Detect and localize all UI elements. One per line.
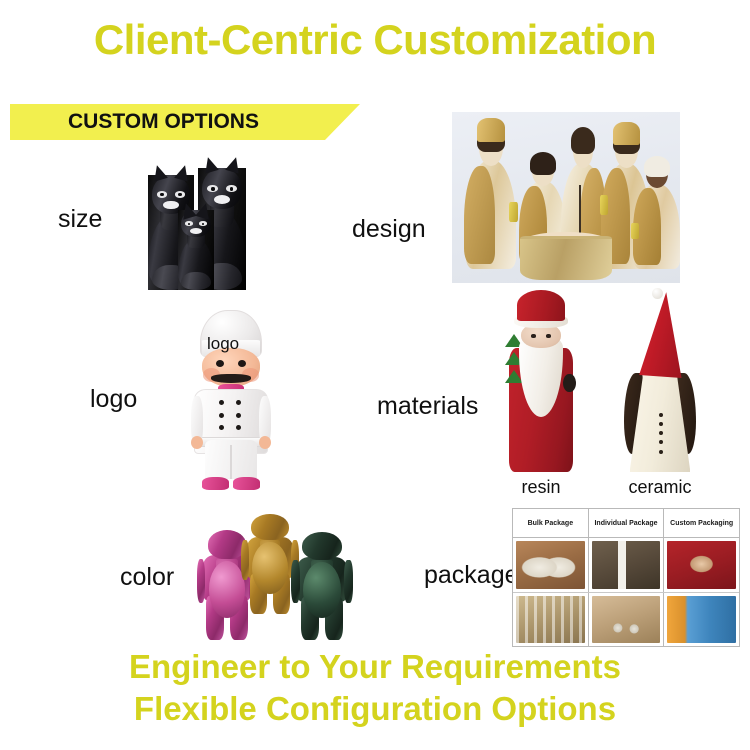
- option-label-design: design: [352, 215, 426, 244]
- astronaut-figurine-green: [294, 532, 350, 640]
- ceramic-santa-hat: [639, 290, 687, 377]
- table-row: [513, 538, 739, 593]
- cell-individual-photo-2: [589, 593, 665, 647]
- cat-ear-icon: [151, 163, 169, 181]
- black-cat-figurines-image: [148, 155, 258, 290]
- option-label-color: color: [120, 563, 174, 592]
- column-header-custom: Custom Packaging: [664, 509, 739, 537]
- astronaut-figurines-image: [198, 512, 350, 640]
- nativity-figure-wiseman-left: [466, 129, 516, 269]
- footer-slogan-line-1: Engineer to Your Requirements: [0, 648, 750, 686]
- cat-ear-icon: [180, 201, 198, 219]
- column-header-bulk: Bulk Package: [513, 509, 589, 537]
- custom-options-label: CUSTOM OPTIONS: [68, 110, 259, 134]
- option-label-size: size: [58, 205, 102, 234]
- astronaut-figurine-gold: [244, 514, 296, 614]
- chef-moustache: [211, 374, 251, 383]
- chef-shoe: [233, 477, 261, 490]
- cat-figurine-small: [178, 210, 214, 290]
- santa-resin-figurine-image: [505, 290, 577, 472]
- packaging-table: Bulk Package Individual Package Custom P…: [512, 508, 740, 647]
- nativity-set-figurines-image: [452, 112, 680, 283]
- cat-ear-icon: [226, 156, 244, 174]
- cat-ear-icon: [195, 201, 213, 219]
- footer-slogan-line-2: Flexible Configuration Options: [0, 690, 750, 728]
- page-title: Client-Centric Customization: [0, 16, 750, 64]
- chef-figurine-image: logo: [185, 310, 277, 490]
- option-label-materials: materials: [377, 392, 478, 421]
- cell-bulk-photo-1: [513, 538, 589, 592]
- promo-banner-page: Client-Centric Customization CUSTOM OPTI…: [0, 0, 750, 750]
- nativity-figure-wiseman-kneeling: [634, 160, 680, 269]
- option-label-logo: logo: [90, 385, 137, 414]
- packaging-table-header: Bulk Package Individual Package Custom P…: [513, 509, 739, 538]
- material-label-resin: resin: [505, 477, 577, 498]
- cell-custom-photo-1: [664, 538, 739, 592]
- table-row: [513, 593, 739, 647]
- cat-ear-icon: [201, 156, 219, 174]
- cell-bulk-photo-2: [513, 593, 589, 647]
- chef-shoe: [202, 477, 230, 490]
- hat-pompom: [652, 288, 663, 299]
- cell-custom-photo-2: [664, 593, 739, 647]
- logo-overlay-text: logo: [207, 334, 239, 354]
- cell-individual-photo-1: [589, 538, 665, 592]
- santa-ceramic-figurine-image: [622, 288, 698, 472]
- santa-hat: [517, 290, 566, 321]
- column-header-individual: Individual Package: [589, 509, 665, 537]
- option-label-package: package: [424, 561, 519, 590]
- material-label-ceramic: ceramic: [622, 477, 698, 498]
- nativity-manger: [520, 236, 611, 280]
- cat-ear-icon: [174, 163, 192, 181]
